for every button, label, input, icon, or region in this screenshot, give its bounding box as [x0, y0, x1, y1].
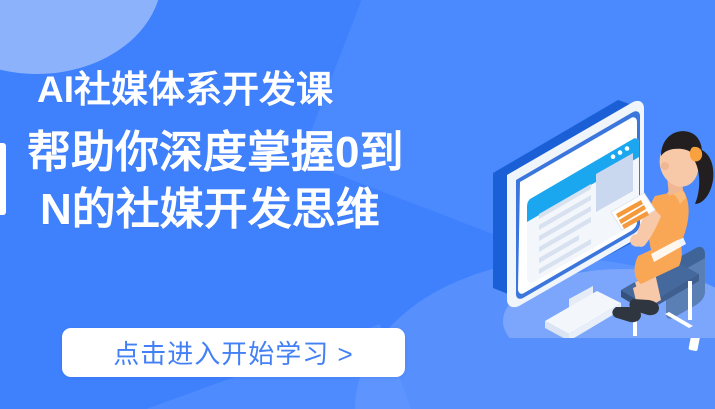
circle-shape-top-left: [0, 0, 162, 74]
window-dot-2: [618, 150, 623, 155]
headline-line-2: 帮助你深度掌握0到: [27, 124, 534, 181]
start-learning-button-label: 点击进入开始学习 >: [113, 334, 353, 371]
woman-hand: [630, 234, 644, 246]
woman-ear: [661, 162, 669, 170]
chair-leg-back: [688, 281, 692, 320]
headline-line-1: AI社媒体系开发课: [37, 66, 534, 114]
headline-block: AI社媒体系开发课 帮助你深度掌握0到 N的社媒开发思维: [34, 66, 534, 238]
headline-line-3: N的社媒开发思维: [40, 181, 534, 238]
window-dot-1: [625, 146, 630, 151]
course-promo-banner: AI社媒体系开发课 帮助你深度掌握0到 N的社媒开发思维 点击进入开始学习 >: [0, 0, 715, 409]
start-learning-button[interactable]: 点击进入开始学习 >: [62, 328, 405, 377]
white-stripe-left: [0, 143, 6, 215]
window-dot-3: [611, 154, 616, 159]
